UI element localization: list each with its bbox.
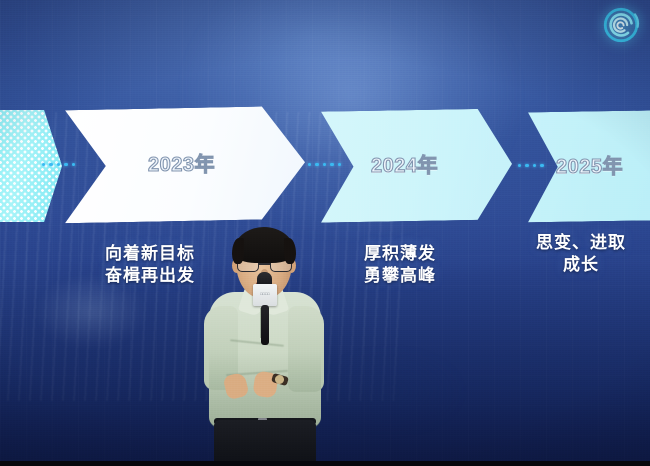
stage-photo: 2023年 2024年 2025年 向着新目标 奋楫再出发 厚积薄发 勇攀高峰 …: [0, 0, 650, 466]
photo-vignette: [0, 0, 650, 466]
photo-bottom-edge: [0, 461, 650, 466]
